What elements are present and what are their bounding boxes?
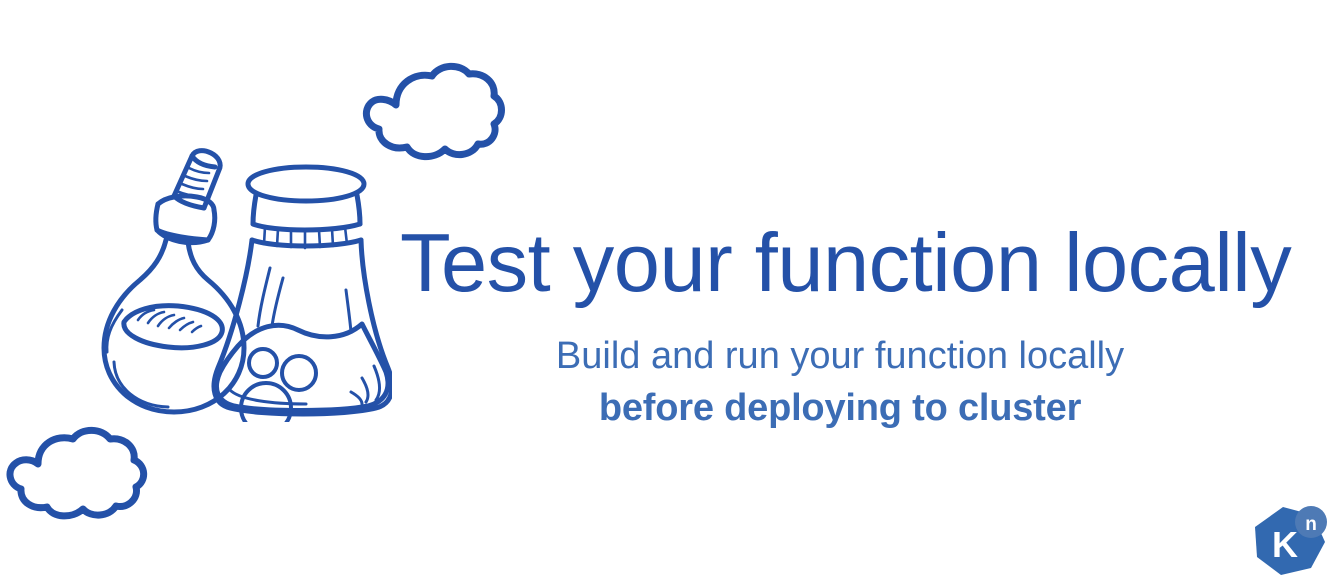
knative-k-letter: K [1272,524,1298,565]
cloud-icon [0,424,160,520]
cloud-icon [352,58,508,170]
science-flasks-illustration [62,140,392,422]
page-title: Test your function locally [400,218,1280,308]
subtitle-line-1: Build and run your function locally [400,330,1280,382]
knative-logo: K n [1249,505,1329,579]
slide-canvas: Test your function locally Build and run… [0,0,1341,585]
knative-n-letter: n [1305,514,1317,535]
subtitle-line-2: before deploying to cluster [400,382,1280,434]
text-block: Test your function locally Build and run… [400,218,1280,435]
subtitle-block: Build and run your function locally befo… [400,330,1280,435]
